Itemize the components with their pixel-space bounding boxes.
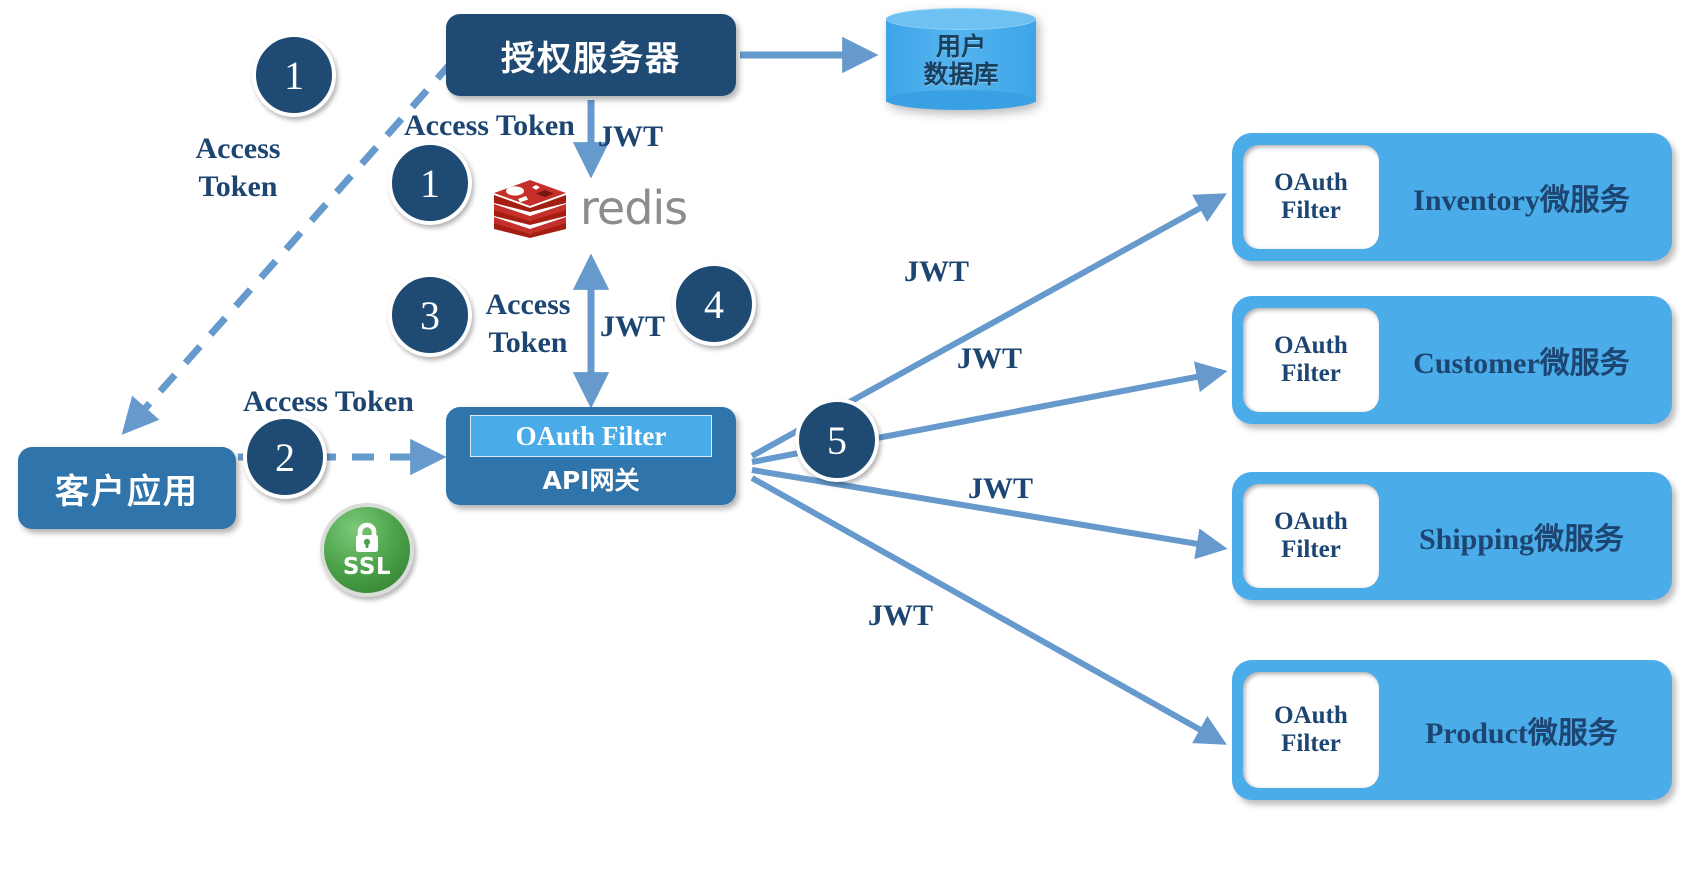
label-access-token-gateway: Access Token [473, 286, 583, 361]
shipping-filter-line2: Filter [1281, 536, 1341, 564]
label-jwt-shipping: JWT [968, 470, 1033, 508]
user-database-label-line2: 数据库 [923, 61, 998, 89]
redis-wordmark: redis [580, 185, 687, 231]
inventory-title: Inventory微服务 [1379, 175, 1672, 219]
redis-node[interactable]: redis [490, 176, 690, 240]
shipping-filter-line1: OAuth [1274, 508, 1348, 536]
label-jwt-gateway-redis: JWT [600, 308, 665, 346]
microservice-product[interactable]: OAuth Filter Product微服务 [1232, 660, 1672, 800]
customer-title: Customer微服务 [1379, 338, 1672, 382]
product-title: Product微服务 [1379, 708, 1672, 752]
step-badge-3[interactable]: 3 [388, 273, 472, 357]
product-filter-line1: OAuth [1274, 702, 1348, 730]
edge-gateway-to-product [752, 478, 1222, 742]
product-filter-line2: Filter [1281, 730, 1341, 758]
microservice-inventory[interactable]: OAuth Filter Inventory微服务 [1232, 133, 1672, 261]
ssl-label: SSL [343, 556, 391, 579]
inventory-filter-line2: Filter [1281, 197, 1341, 225]
customer-oauth-filter-chip[interactable]: OAuth Filter [1243, 308, 1379, 412]
step-badge-1b[interactable]: 1 [388, 141, 472, 225]
product-oauth-filter-chip[interactable]: OAuth Filter [1243, 672, 1379, 788]
api-gateway-label: API网关 [543, 461, 640, 497]
label-access-token-top: Access Token [404, 107, 575, 145]
step-badge-1a[interactable]: 1 [252, 33, 336, 117]
label-jwt-customer: JWT [957, 340, 1022, 378]
padlock-icon [350, 521, 384, 555]
gateway-oauth-filter-chip[interactable]: OAuth Filter [470, 415, 712, 457]
microservice-shipping[interactable]: OAuth Filter Shipping微服务 [1232, 472, 1672, 600]
client-app-label: 客户应用 [55, 464, 199, 513]
customer-filter-line2: Filter [1281, 360, 1341, 388]
user-database-label-line1: 用户 [936, 33, 986, 61]
auth-server-node[interactable]: 授权服务器 [446, 14, 736, 96]
label-access-token-client: Access Token [243, 383, 414, 421]
architecture-diagram-canvas: 授权服务器 用户 数据库 redis 客 [0, 0, 1688, 878]
user-database-label: 用户 数据库 [886, 22, 1036, 100]
inventory-oauth-filter-chip[interactable]: OAuth Filter [1243, 145, 1379, 249]
step-badge-4[interactable]: 4 [672, 262, 756, 346]
label-jwt-auth-redis: JWT [598, 118, 663, 156]
customer-filter-line1: OAuth [1274, 332, 1348, 360]
step-badge-5[interactable]: 5 [795, 398, 879, 482]
inventory-filter-line1: OAuth [1274, 169, 1348, 197]
client-app-node[interactable]: 客户应用 [18, 447, 236, 529]
label-jwt-inventory: JWT [904, 253, 969, 291]
user-database-node[interactable]: 用户 数据库 [886, 8, 1036, 110]
auth-server-label: 授权服务器 [501, 31, 681, 80]
label-jwt-product: JWT [868, 597, 933, 635]
label-access-token-left: Access Token [168, 130, 308, 205]
api-gateway-node[interactable]: OAuth Filter API网关 [446, 407, 736, 505]
shipping-oauth-filter-chip[interactable]: OAuth Filter [1243, 484, 1379, 588]
ssl-lock-icon: SSL [320, 503, 414, 597]
redis-logo-icon [490, 177, 570, 239]
shipping-title: Shipping微服务 [1379, 514, 1672, 558]
step-badge-2[interactable]: 2 [243, 415, 327, 499]
microservice-customer[interactable]: OAuth Filter Customer微服务 [1232, 296, 1672, 424]
